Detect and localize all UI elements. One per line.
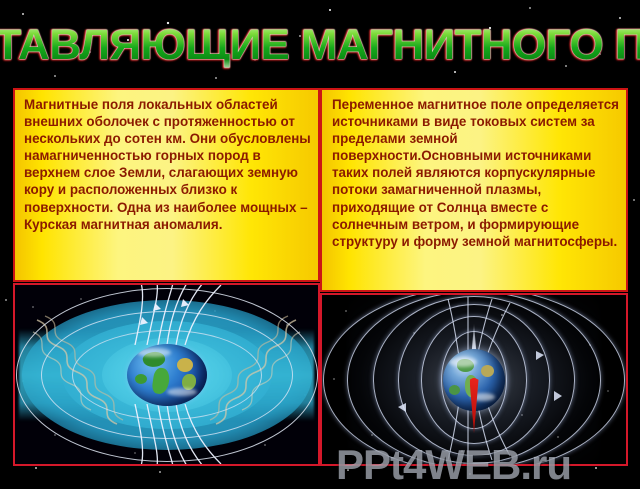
slide-root: СОСТАВЛЯЮЩИЕ МАГНИТНОГО ПОЛЯ Магнитные п… bbox=[0, 0, 640, 480]
earth-magnetosphere-diagram bbox=[15, 285, 318, 464]
continent-shape bbox=[449, 385, 460, 395]
title-container: СОСТАВЛЯЮЩИЕ МАГНИТНОГО ПОЛЯ bbox=[0, 14, 640, 76]
right-text-panel: Переменное магнитное поле определяется и… bbox=[320, 88, 628, 292]
cloud-shape bbox=[137, 348, 171, 357]
continent-shape bbox=[481, 365, 494, 377]
right-panel-text: Переменное магнитное поле определяется и… bbox=[322, 90, 626, 250]
page-title: СОСТАВЛЯЮЩИЕ МАГНИТНОГО ПОЛЯ bbox=[0, 21, 640, 70]
polar-field-lines-north-icon bbox=[15, 285, 318, 345]
cloud-shape bbox=[449, 357, 477, 367]
earth-globe-left bbox=[127, 344, 207, 406]
continent-shape bbox=[135, 374, 147, 384]
right-image-frame bbox=[320, 293, 628, 466]
left-panel-text: Магнитные поля локальных областей внешни… bbox=[15, 90, 318, 233]
left-text-panel: Магнитные поля локальных областей внешни… bbox=[13, 88, 320, 282]
continent-shape bbox=[177, 358, 193, 372]
left-image-frame bbox=[13, 283, 320, 466]
cloud-shape bbox=[167, 388, 197, 396]
earth-dipole-field-photo bbox=[322, 295, 626, 464]
polar-field-lines-south-icon bbox=[15, 404, 318, 464]
